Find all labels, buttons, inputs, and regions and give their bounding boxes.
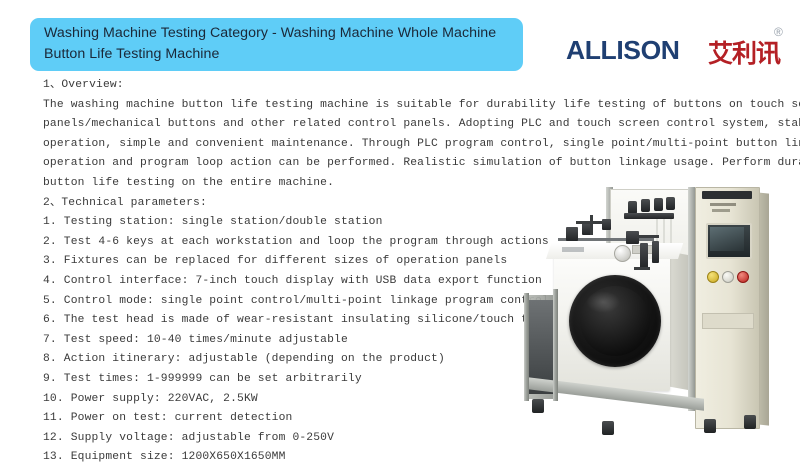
parameter-item: 13. Equipment size: 1200X650X1650MM <box>43 448 743 468</box>
page-header: Washing Machine Testing Category - Washi… <box>0 0 800 72</box>
overview-line: operation, simple and convenient mainten… <box>43 135 743 155</box>
caster-wheel <box>744 415 756 429</box>
jig-vertical-slide <box>640 243 648 269</box>
door-glass-highlight <box>586 291 620 313</box>
jig-arm <box>634 267 650 270</box>
cabinet-label <box>710 203 736 206</box>
program-selector-knob <box>614 245 631 262</box>
allison-logo: ALLISON 艾利讯 ® <box>566 30 791 70</box>
page-title-line-2: Button Life Testing Machine <box>44 44 511 65</box>
trolley-post <box>553 289 558 401</box>
caster-wheel <box>602 421 614 435</box>
cabinet-label <box>712 209 730 212</box>
jig-vertical-slide <box>652 241 659 263</box>
washing-machine-brand-logo <box>562 247 584 252</box>
pneumatic-valve <box>641 199 650 212</box>
emergency-stop-button[interactable] <box>737 271 749 283</box>
logo-chinese-name: 艾利讯 <box>708 34 780 70</box>
registered-trademark-icon: ® <box>774 25 783 39</box>
overview-heading: 1、Overview: <box>43 76 743 96</box>
overview-line: The washing machine button life testing … <box>43 96 743 116</box>
caster-wheel <box>532 399 544 413</box>
cabinet-vent-grille <box>702 191 752 199</box>
product-photo <box>506 183 800 450</box>
cabinet-nameplate <box>702 313 754 329</box>
test-head-actuator <box>566 227 578 241</box>
valve-manifold <box>624 213 674 219</box>
page-title-line-1: Washing Machine Testing Category - Washi… <box>44 25 496 41</box>
jig-post <box>590 215 593 235</box>
pneumatic-valve <box>654 198 663 211</box>
overview-line: panels/mechanical buttons and other rela… <box>43 115 743 135</box>
cabinet-button-yellow[interactable] <box>707 271 719 283</box>
rig-vertical-rail-right <box>688 187 695 411</box>
page-title: Washing Machine Testing Category - Washi… <box>30 18 523 71</box>
jig-arm <box>637 235 659 238</box>
pneumatic-valve <box>666 197 675 210</box>
logo-wordmark: ALLISON <box>566 35 680 66</box>
cabinet-button-white[interactable] <box>722 271 734 283</box>
test-head-actuator <box>602 219 611 230</box>
caster-wheel <box>704 419 716 433</box>
overview-line: operation and program loop action can be… <box>43 154 743 174</box>
trolley-post <box>524 293 529 401</box>
touch-screen-display[interactable] <box>710 227 744 251</box>
